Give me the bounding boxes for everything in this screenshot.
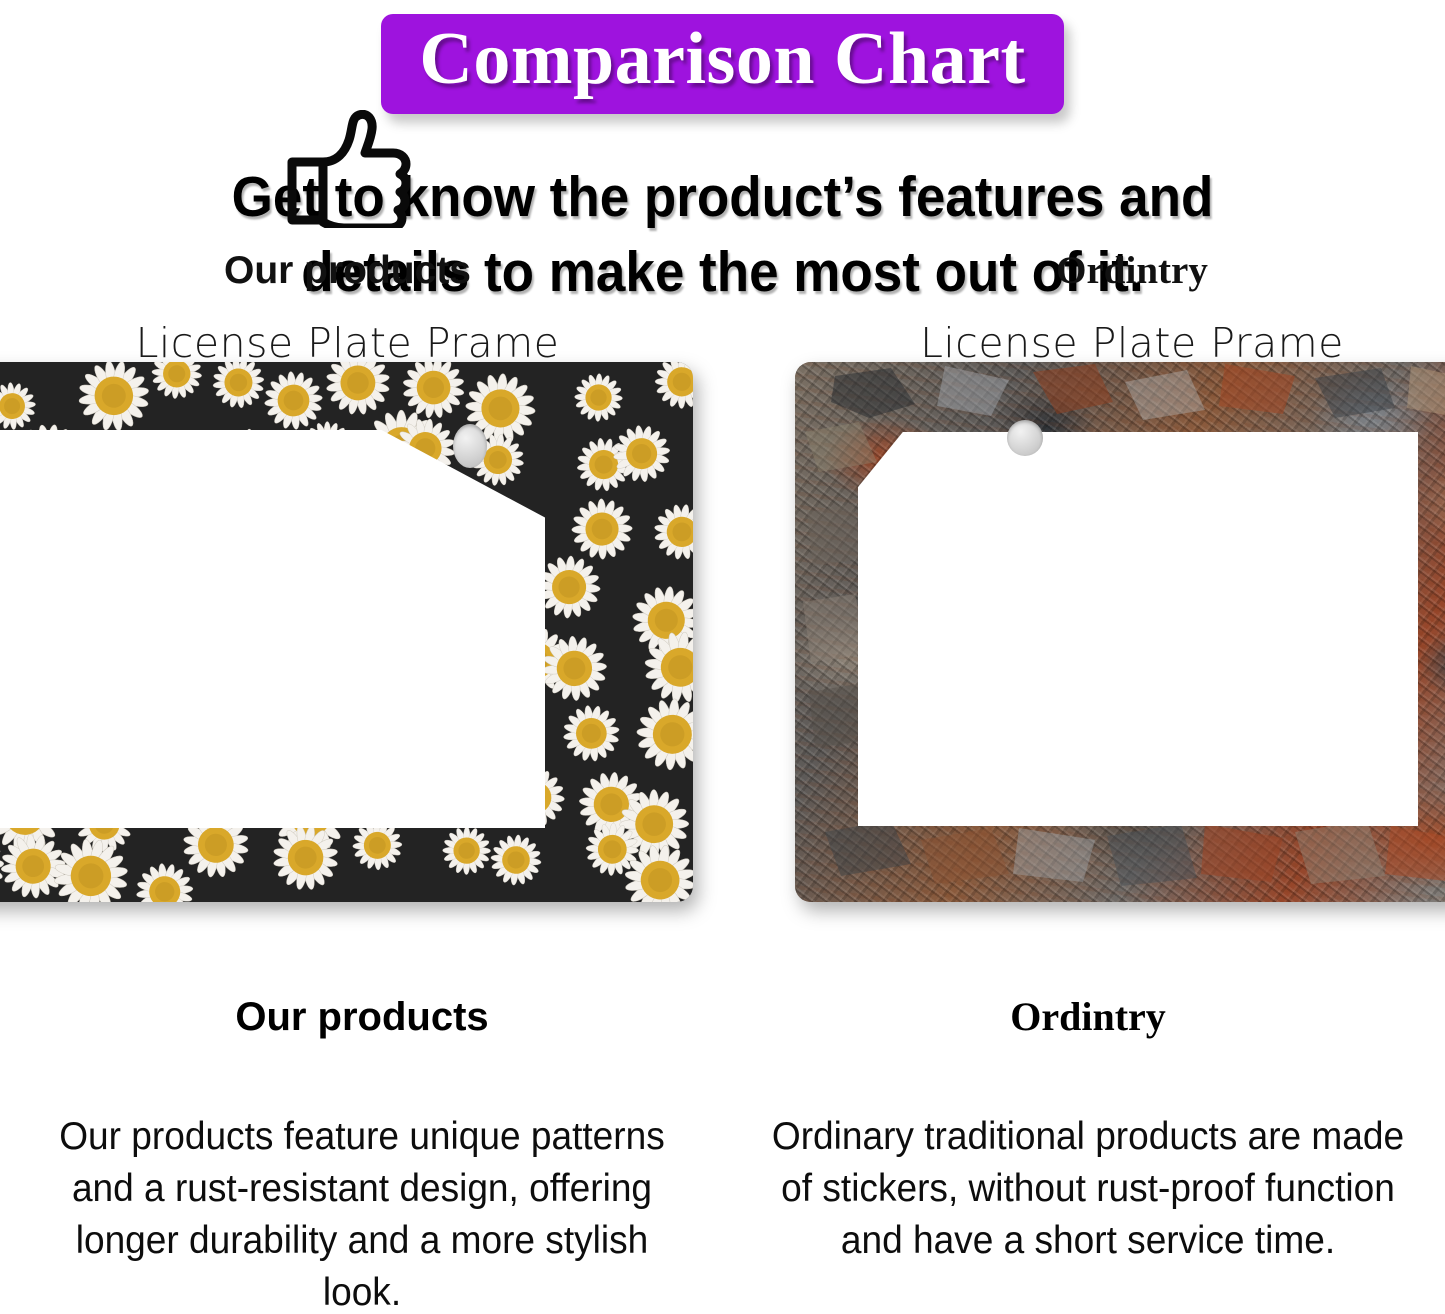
ordinary-product-frame	[795, 362, 1445, 902]
our-product-frame-product: License Plate Prame	[75, 321, 620, 366]
our-product-column: Our products Our products feature unique…	[22, 995, 702, 1314]
our-product-heading: Our products	[22, 995, 702, 1039]
ordinary-product-frame-product: License Plate Prame	[858, 321, 1406, 366]
frame-window-right	[858, 432, 1418, 826]
ordinary-product-frame-label: Ordintry	[858, 250, 1406, 293]
our-product-window-content: Our products License Plate Prame	[75, 110, 620, 366]
ordinary-product-window-content: Ordintry License Plate Prame	[858, 112, 1406, 366]
mounting-hole-icon	[1007, 420, 1043, 456]
title-banner: Comparison Chart	[381, 14, 1063, 114]
our-product-frame-label: Our products	[75, 250, 620, 293]
our-product-description: Our products feature unique patterns and…	[39, 1111, 685, 1314]
frame-window-left	[0, 430, 545, 828]
mounting-hole-icon	[453, 424, 487, 468]
ordinary-product-heading: Ordintry	[748, 995, 1428, 1039]
thumbs-down-icon	[1071, 112, 1193, 228]
page-title: Comparison Chart	[419, 20, 1025, 100]
thumbs-up-icon	[284, 110, 412, 228]
our-product-frame	[0, 362, 693, 902]
comparison-chart-page: Comparison Chart Get to know the product…	[0, 0, 1445, 1314]
title-banner-wrapper: Comparison Chart	[0, 14, 1445, 114]
ordinary-product-column: Ordintry Ordinary traditional products a…	[748, 995, 1428, 1267]
ordinary-product-description: Ordinary traditional products are made o…	[765, 1111, 1411, 1267]
